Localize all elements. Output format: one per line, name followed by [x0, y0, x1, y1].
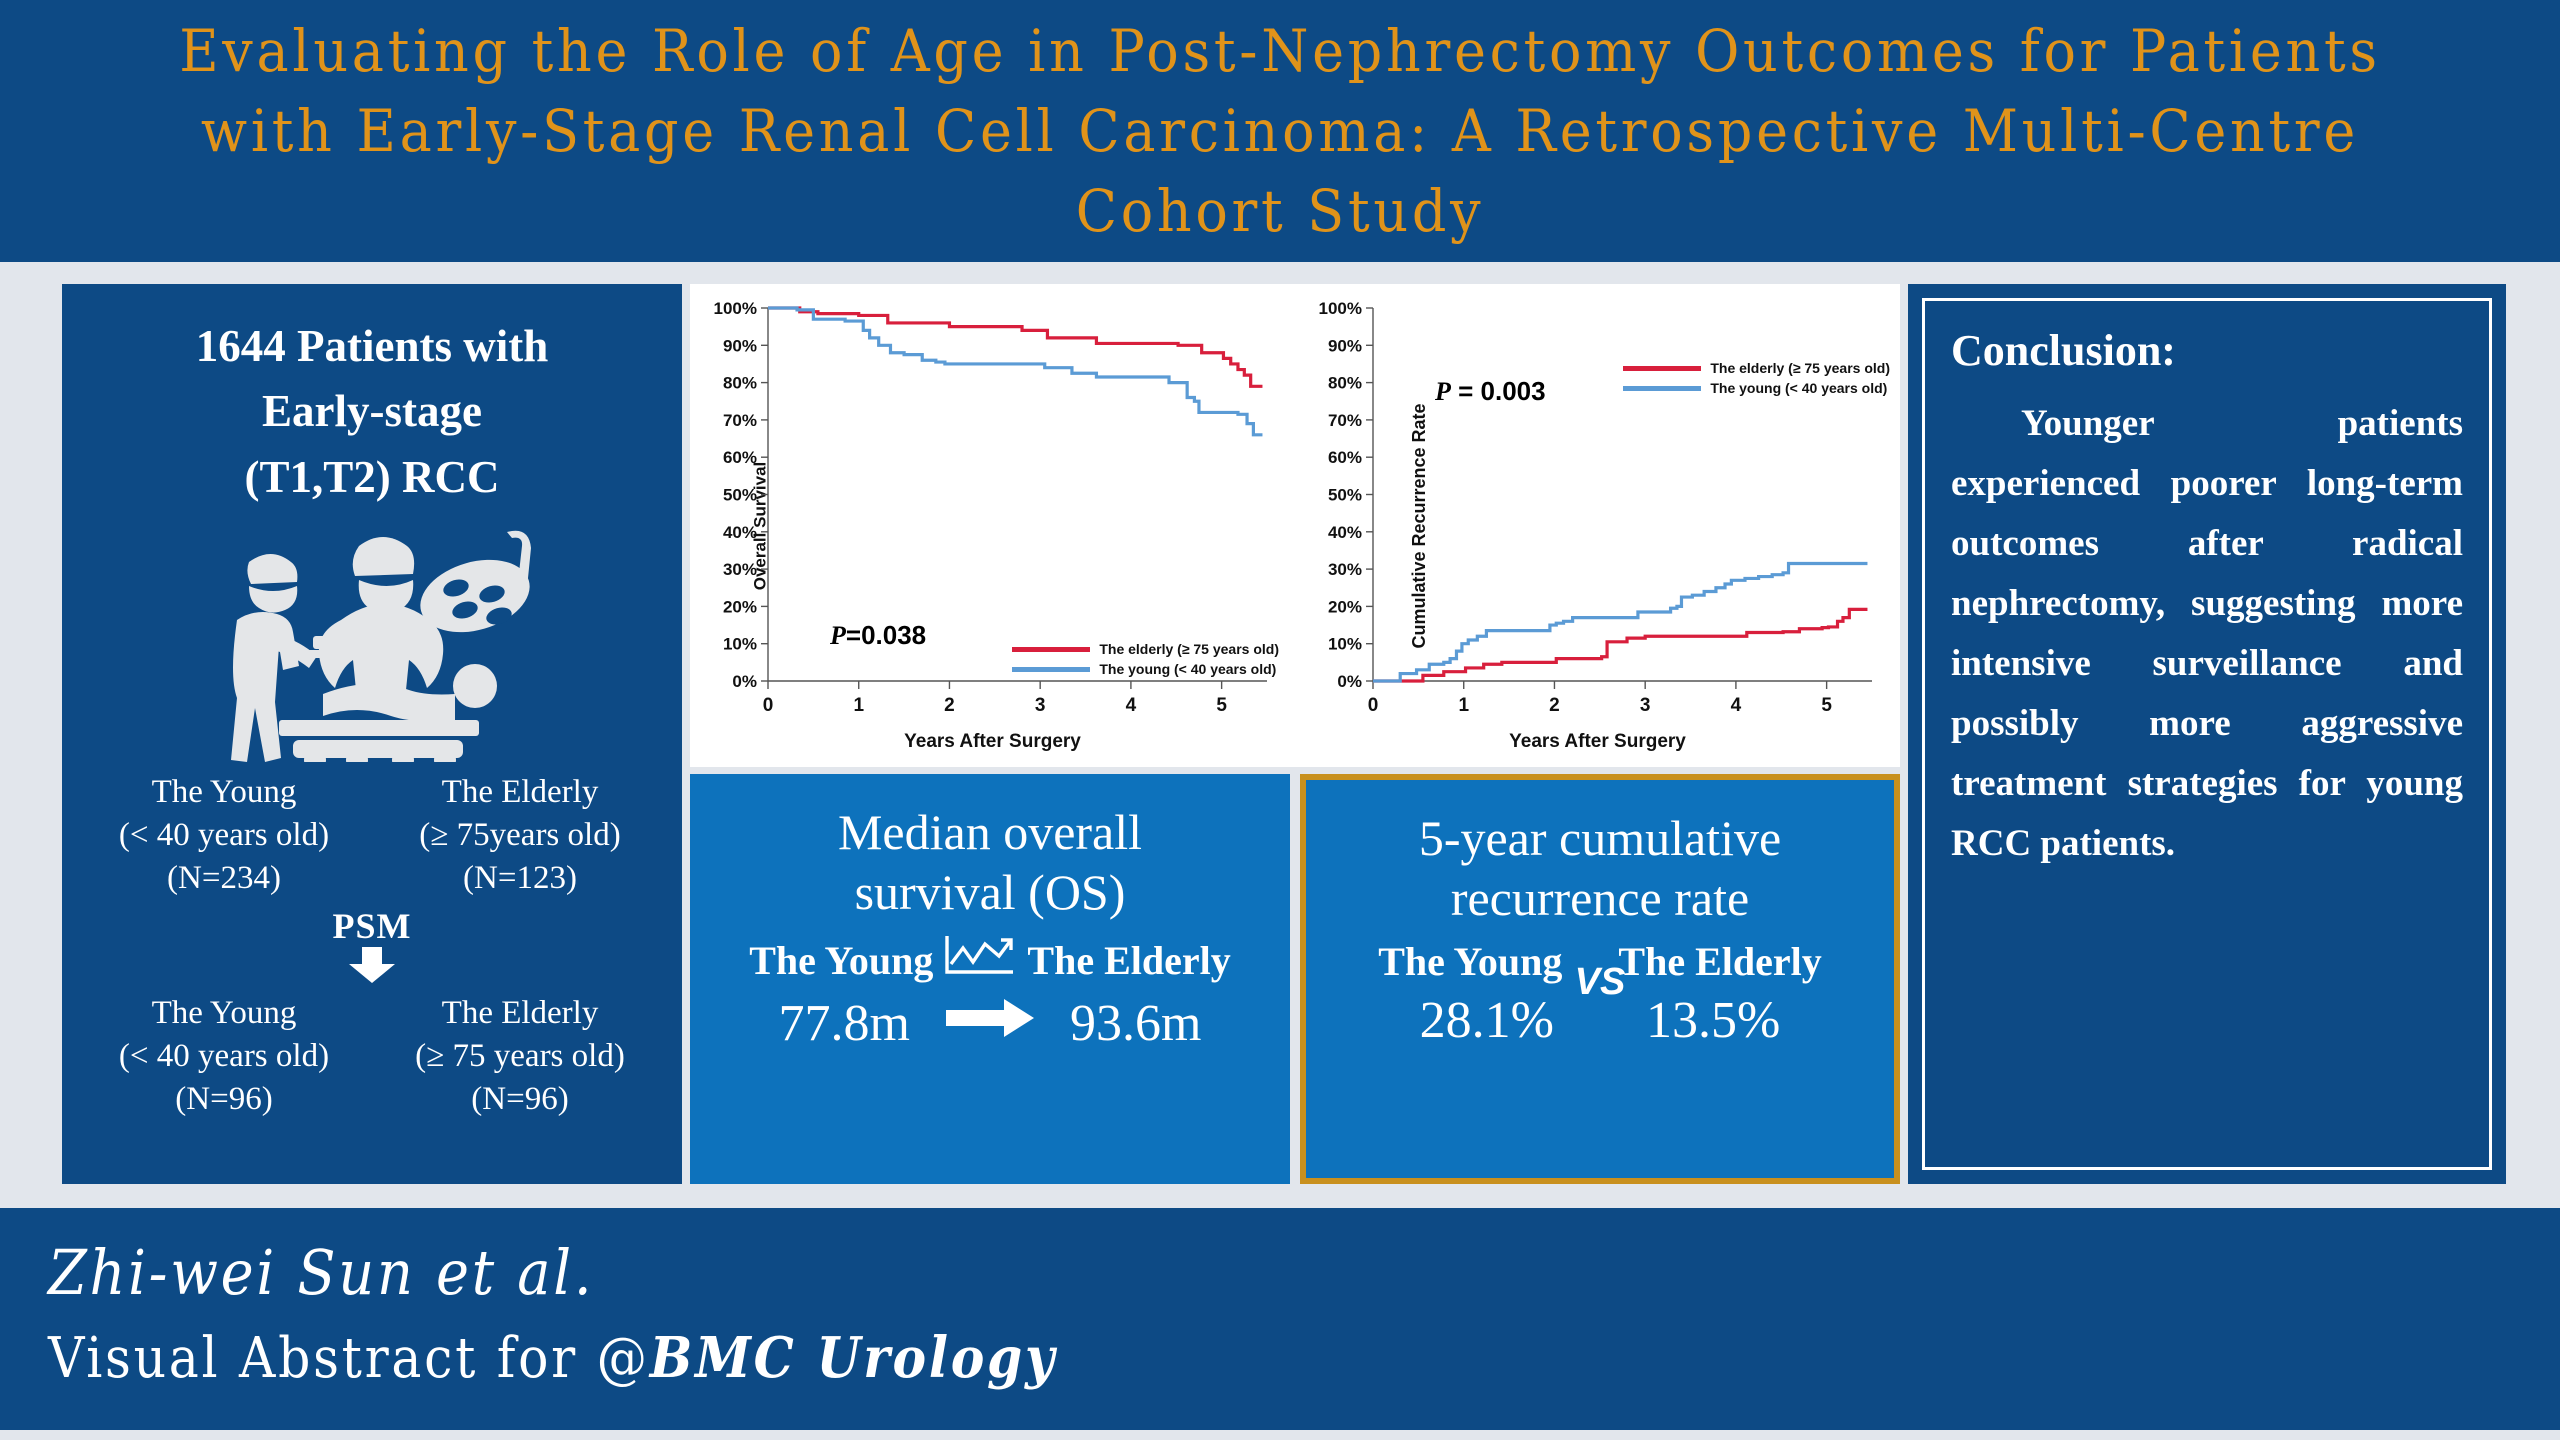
svg-text:0%: 0% — [732, 672, 757, 691]
svg-text:50%: 50% — [1328, 486, 1362, 505]
legend-label: The elderly (≥ 75 years old) — [1099, 641, 1279, 657]
svg-text:80%: 80% — [723, 374, 757, 393]
svg-text:0: 0 — [763, 695, 774, 716]
median-os-left-label: The Young — [749, 937, 933, 984]
svg-text:10%: 10% — [1328, 635, 1362, 654]
legend-swatch — [1012, 667, 1090, 672]
svg-text:0: 0 — [1368, 695, 1379, 716]
svg-text:4: 4 — [1126, 695, 1137, 716]
os-p-value: P=0.038 — [830, 620, 926, 651]
median-os-left-value: 77.8m — [779, 994, 910, 1053]
svg-text:2: 2 — [944, 695, 955, 716]
svg-text:70%: 70% — [1328, 411, 1362, 430]
legend-swatch — [1623, 366, 1701, 371]
median-os-labels: The Young The Elderly — [690, 932, 1290, 988]
psm-block: PSM — [333, 905, 412, 990]
conclusion-heading: Conclusion: — [1951, 325, 2463, 376]
recurrence-legend: The elderly (≥ 75 years old)The young (<… — [1623, 360, 1890, 400]
cohort-after-psm-row: The Young (< 40 years old) (N=96) The El… — [76, 992, 668, 1121]
svg-text:50%: 50% — [723, 486, 757, 505]
legend-item: The elderly (≥ 75 years old) — [1012, 641, 1279, 657]
psm-label: PSM — [333, 906, 412, 946]
recurrence-values: 28.1% VS 13.5% — [1306, 991, 1894, 1050]
conclusion-inner-frame: Conclusion: Younger patients experienced… — [1922, 298, 2492, 1170]
median-os-title-line2: survival (OS) — [855, 864, 1126, 920]
recurrence-result-box: 5-year cumulative recurrence rate The Yo… — [1300, 774, 1900, 1184]
svg-text:30%: 30% — [723, 560, 757, 579]
recurrence-right-value: 13.5% — [1646, 991, 1780, 1050]
legend-item: The young (< 40 years old) — [1623, 380, 1890, 396]
footer-author: Zhi-wei Sun et al. — [48, 1236, 2309, 1309]
svg-text:3: 3 — [1035, 695, 1046, 716]
cohort-headline-line3: (T1,T2) RCC — [245, 452, 500, 502]
group-age: (< 40 years old) — [76, 814, 372, 857]
cohort-headline-line1: 1644 Patients with — [196, 321, 549, 371]
group-age: (≥ 75 years old) — [372, 1035, 668, 1078]
svg-text:1: 1 — [1458, 695, 1469, 716]
svg-text:90%: 90% — [723, 336, 757, 355]
group-label: The Elderly — [372, 771, 668, 814]
cohort-panel: 1644 Patients with Early-stage (T1,T2) R… — [62, 284, 682, 1184]
footer-bar: Zhi-wei Sun et al. Visual Abstract for @… — [0, 1200, 2560, 1440]
group-label: The Young — [76, 992, 372, 1035]
median-os-result-box: Median overall survival (OS) The Young T… — [690, 774, 1290, 1184]
body-area: 1644 Patients with Early-stage (T1,T2) R… — [0, 274, 2560, 1194]
svg-text:100%: 100% — [1319, 299, 1362, 318]
svg-text:100%: 100% — [714, 299, 757, 318]
svg-text:0%: 0% — [1337, 672, 1362, 691]
os-x-axis-label: Years After Surgery — [690, 731, 1295, 753]
svg-text:60%: 60% — [1328, 448, 1362, 467]
svg-text:40%: 40% — [1328, 523, 1362, 542]
cumulative-recurrence-chart: Cumulative Recurrence Rate 0%10%20%30%40… — [1295, 284, 1900, 767]
median-os-title-line1: Median overall — [838, 804, 1142, 860]
group-young-after: The Young (< 40 years old) (N=96) — [76, 992, 372, 1121]
svg-text:60%: 60% — [723, 448, 757, 467]
svg-text:5: 5 — [1821, 695, 1832, 716]
legend-label: The elderly (≥ 75 years old) — [1710, 360, 1890, 376]
group-n: (N=123) — [372, 857, 668, 900]
svg-text:20%: 20% — [1328, 597, 1362, 616]
median-os-title: Median overall survival (OS) — [838, 802, 1142, 922]
median-os-values: 77.8m 93.6m — [690, 994, 1290, 1053]
svg-text:20%: 20% — [723, 597, 757, 616]
group-elderly-before: The Elderly (≥ 75years old) (N=123) — [372, 771, 668, 900]
legend-item: The young (< 40 years old) — [1012, 661, 1279, 677]
right-arrow-icon — [944, 994, 1036, 1053]
conclusion-text: Younger patients experienced poorer long… — [1951, 394, 2463, 874]
group-label: The Elderly — [372, 992, 668, 1035]
svg-text:90%: 90% — [1328, 336, 1362, 355]
title-bar: Evaluating the Role of Age in Post-Nephr… — [0, 0, 2560, 268]
recurrence-plot-svg: 0%10%20%30%40%50%60%70%80%90%100%012345 — [1295, 284, 1900, 767]
legend-label: The young (< 40 years old) — [1099, 661, 1276, 677]
recurrence-title-line1: 5-year cumulative — [1419, 810, 1781, 866]
down-arrow-icon — [333, 945, 412, 990]
group-age: (≥ 75years old) — [372, 814, 668, 857]
os-legend: The elderly (≥ 75 years old)The young (<… — [1012, 641, 1279, 681]
recurrence-left-label: The Young — [1378, 938, 1562, 985]
surgery-icon — [207, 524, 537, 767]
group-age: (< 40 years old) — [76, 1035, 372, 1078]
svg-text:3: 3 — [1640, 695, 1651, 716]
footer-journal: BMC Urology — [650, 1325, 1057, 1391]
conclusion-panel: Conclusion: Younger patients experienced… — [1908, 284, 2506, 1184]
group-n: (N=96) — [372, 1078, 668, 1121]
versus-label: VS — [1575, 961, 1626, 1004]
footer-subtitle-prefix: Visual Abstract for @ — [48, 1326, 650, 1391]
svg-text:30%: 30% — [1328, 560, 1362, 579]
overall-survival-chart: Overall Survival 0%10%20%30%40%50%60%70%… — [690, 284, 1295, 767]
legend-swatch — [1012, 647, 1090, 652]
svg-text:70%: 70% — [723, 411, 757, 430]
recurrence-p-value: P = 0.003 — [1435, 376, 1546, 407]
page-title: Evaluating the Role of Age in Post-Nephr… — [164, 11, 2396, 251]
cohort-before-psm-row: The Young (< 40 years old) (N=234) The E… — [76, 771, 668, 900]
svg-text:40%: 40% — [723, 523, 757, 542]
recurrence-left-value: 28.1% — [1420, 991, 1554, 1050]
cohort-headline-line2: Early-stage — [262, 386, 482, 436]
recurrence-title: 5-year cumulative recurrence rate — [1419, 808, 1781, 928]
legend-label: The young (< 40 years old) — [1710, 380, 1887, 396]
visual-abstract-poster: Evaluating the Role of Age in Post-Nephr… — [0, 0, 2560, 1440]
svg-text:10%: 10% — [723, 635, 757, 654]
cohort-headline: 1644 Patients with Early-stage (T1,T2) R… — [196, 314, 549, 510]
legend-swatch — [1623, 386, 1701, 391]
median-os-right-value: 93.6m — [1070, 994, 1201, 1053]
median-os-right-label: The Elderly — [1027, 937, 1230, 984]
svg-text:80%: 80% — [1328, 374, 1362, 393]
footer-subtitle: Visual Abstract for @BMC Urology — [48, 1325, 2309, 1391]
recurrence-x-axis-label: Years After Surgery — [1295, 731, 1900, 753]
legend-item: The elderly (≥ 75 years old) — [1623, 360, 1890, 376]
group-n: (N=96) — [76, 1078, 372, 1121]
group-young-before: The Young (< 40 years old) (N=234) — [76, 771, 372, 900]
recurrence-title-line2: recurrence rate — [1451, 870, 1749, 926]
os-plot-svg: 0%10%20%30%40%50%60%70%80%90%100%012345 — [690, 284, 1295, 767]
group-label: The Young — [76, 771, 372, 814]
group-n: (N=234) — [76, 857, 372, 900]
svg-text:1: 1 — [853, 695, 864, 716]
svg-text:4: 4 — [1731, 695, 1742, 716]
svg-text:2: 2 — [1549, 695, 1560, 716]
svg-text:5: 5 — [1216, 695, 1227, 716]
charts-panel: Overall Survival 0%10%20%30%40%50%60%70%… — [690, 284, 1900, 767]
recurrence-right-label: The Elderly — [1618, 938, 1821, 985]
cohort-groups: The Young (< 40 years old) (N=234) The E… — [62, 771, 682, 1121]
group-elderly-after: The Elderly (≥ 75 years old) (N=96) — [372, 992, 668, 1121]
line-chart-icon — [943, 932, 1017, 988]
